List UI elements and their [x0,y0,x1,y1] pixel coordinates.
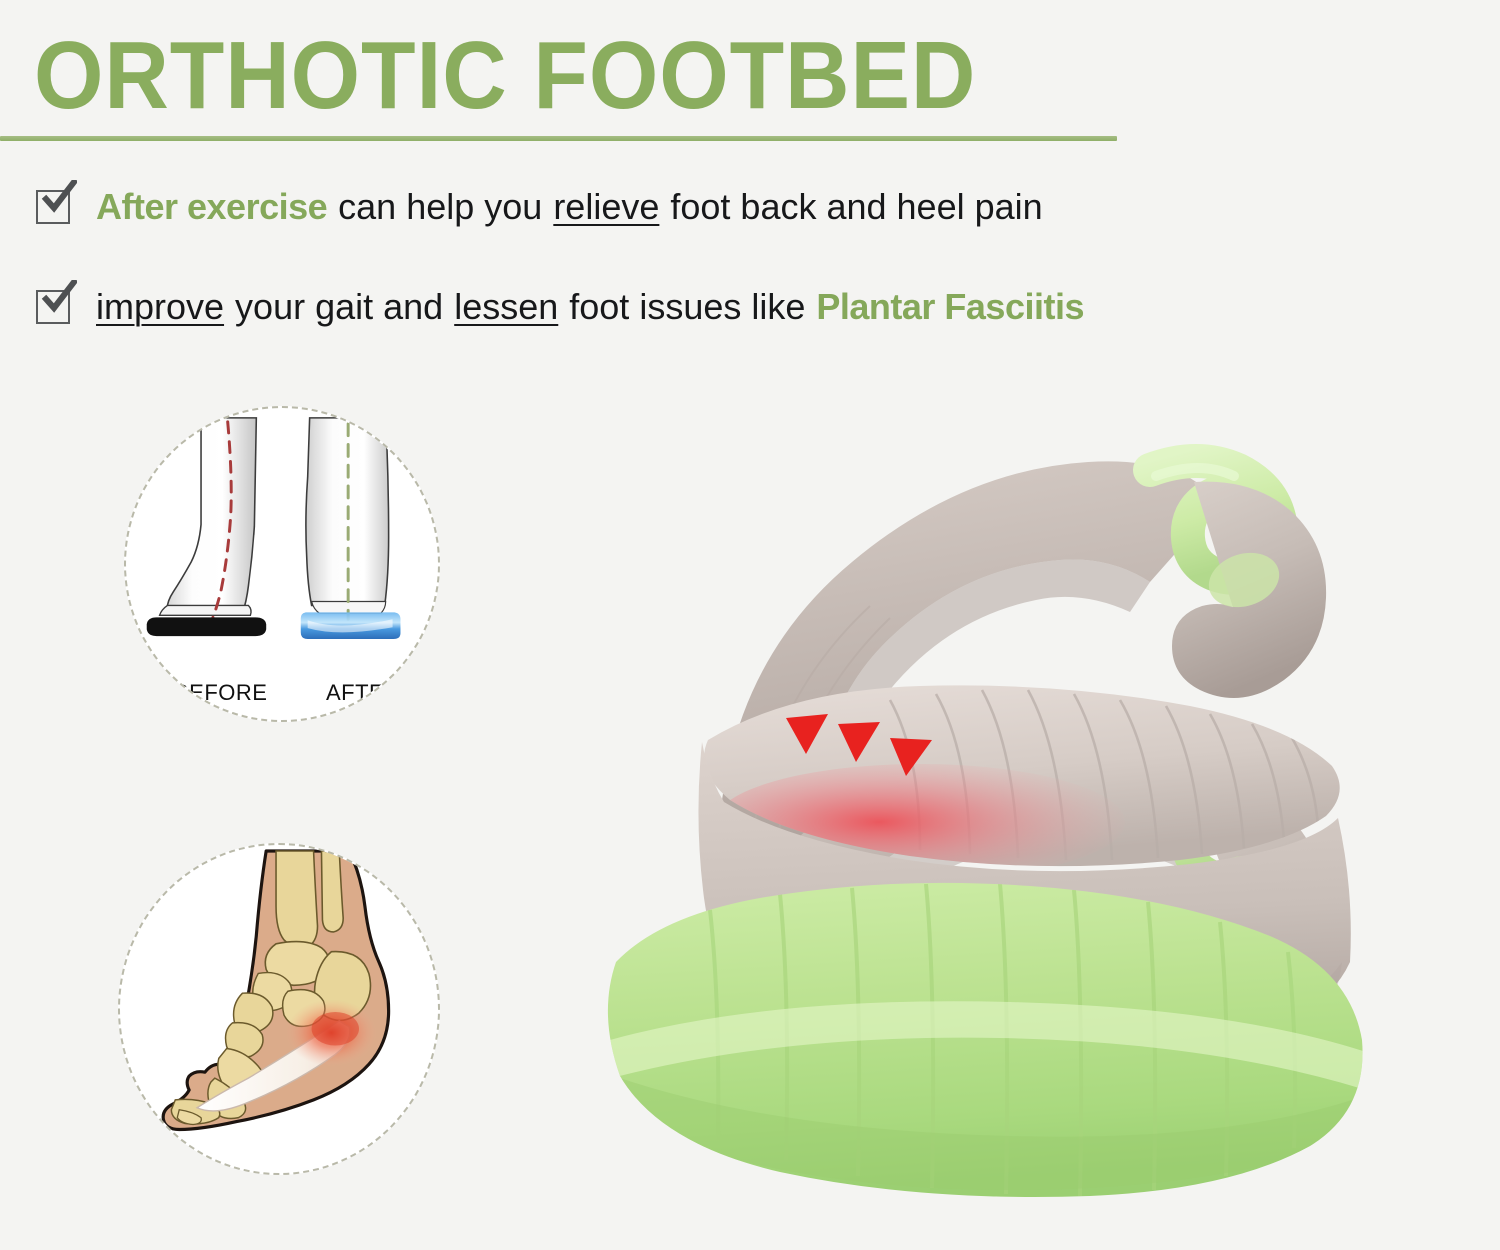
foot-anatomy-illustration [120,845,438,1173]
benefit-2-text-a: your gait and [235,286,443,328]
before-after-illustration [126,408,438,720]
benefit-2-highlight: Plantar Fasciitis [816,286,1084,328]
benefit-row-2: improve your gait and lessen foot issues… [36,286,1084,328]
benefit-1-text-b: foot back and heel pain [670,186,1042,228]
label-after: AFTER [326,680,401,706]
benefit-row-1: After exercise can help you relieve foot… [36,186,1043,228]
inset-foot-anatomy [118,843,440,1175]
after-foot-group [301,418,401,639]
title-divider [0,136,1117,141]
infographic-page: ORTHOTIC FOOTBED After exercise can help… [0,0,1500,1250]
benefit-2-underlined-b: lessen [454,286,558,328]
checkbox-checked-icon [36,190,70,224]
benefit-2-text-b: foot issues like [569,286,805,328]
sandal-illustration [590,350,1450,1230]
page-title: ORTHOTIC FOOTBED [34,26,976,126]
benefit-2-underlined-a: improve [96,286,224,328]
benefit-1-text-a: can help you [338,186,542,228]
inset-before-after-alignment: BEFORE AFTER [124,406,440,722]
checkbox-checked-icon [36,290,70,324]
sandal-midsole [608,883,1366,1197]
before-foot-group [147,418,266,636]
product-image-orthotic-sandal [590,350,1450,1230]
label-before: BEFORE [174,680,267,706]
benefit-1-underlined: relieve [553,186,659,228]
benefit-1-highlight: After exercise [96,186,327,228]
